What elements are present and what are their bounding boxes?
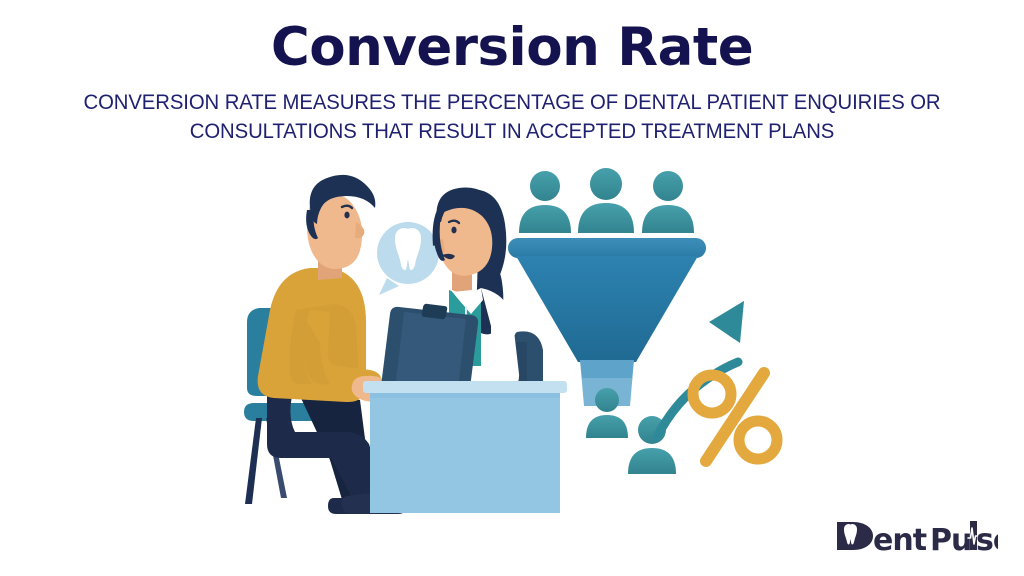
svg-text:Pu: Pu [930, 523, 971, 555]
page-title: Conversion Rate [0, 0, 1024, 77]
person-icon [578, 168, 634, 233]
percent-symbol [693, 373, 777, 461]
slide-canvas: Conversion Rate CONVERSION RATE MEASURES… [0, 0, 1024, 576]
svg-text:ent: ent [873, 523, 927, 555]
funnel-input-people [519, 168, 694, 233]
desk [363, 381, 567, 513]
svg-text:se: se [976, 523, 998, 555]
header: Conversion Rate CONVERSION RATE MEASURES… [0, 0, 1024, 146]
page-subtitle-line-2: CONSULTATIONS THAT RESULT IN ACCEPTED TR… [65, 117, 959, 146]
brand-logo[interactable]: ent Pu se DentPulse [833, 518, 998, 554]
tooth-icon [837, 522, 873, 550]
tooth-speech-bubble [377, 222, 439, 295]
person-icon [642, 171, 694, 233]
person-icon [519, 171, 571, 233]
illustration [0, 160, 1024, 530]
page-subtitle: CONVERSION RATE MEASURES THE PERCENTAGE … [65, 77, 959, 145]
page-subtitle-line-1: CONVERSION RATE MEASURES THE PERCENTAGE … [65, 88, 959, 117]
